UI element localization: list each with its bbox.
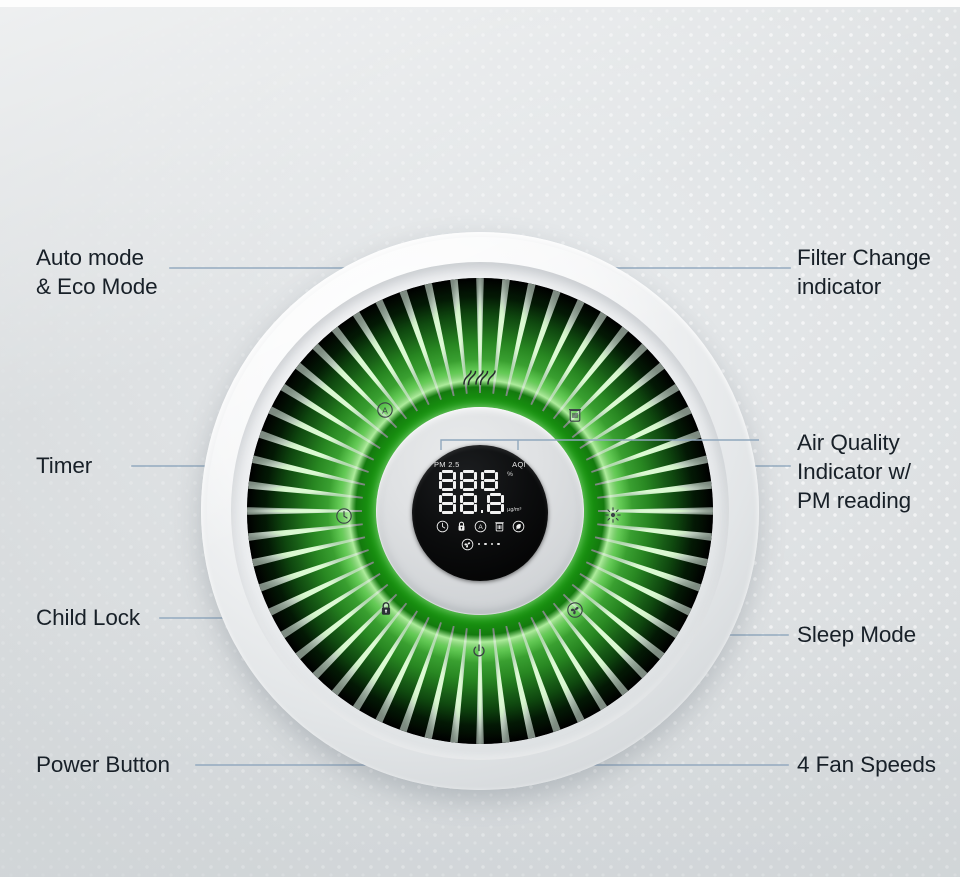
aqi-reading [439,470,505,491]
callout-air-quality: Air Quality Indicator w/ PM reading [797,429,911,515]
power-button[interactable] [470,642,488,660]
fan-speed-dot [497,543,500,546]
fan-status-icon [461,538,474,551]
percent-unit-label: % [507,472,521,479]
airflow-wave-logo-icon [459,368,501,388]
pm25-reading [439,493,505,514]
mass-unit-label: µg/m³ [507,508,521,514]
callout-sleep-mode: Sleep Mode [797,621,916,650]
timer-status-icon [436,520,449,533]
auto-mode-button[interactable]: A [376,401,394,419]
pm25-label: PM 2.5 [434,461,460,469]
svg-text:A: A [382,405,388,415]
sleep-mode-status-icon [512,520,525,533]
filter-change-status-icon [493,520,506,533]
display-status-icons: A [436,520,525,533]
fan-speed-indicator [461,538,500,551]
child-lock-status-icon [455,520,468,533]
air-purifier-device: A [201,232,759,790]
svg-text:A: A [478,523,483,530]
fan-speed-dot [478,543,481,546]
callout-power-button: Power Button [36,751,170,780]
timer-button[interactable] [335,507,353,525]
callout-timer: Timer [36,452,92,481]
decimal-point [481,510,484,513]
filter-change-button[interactable] [566,406,584,424]
callout-filter-change: Filter Change indicator [797,244,931,302]
callout-fan-speeds: 4 Fan Speeds [797,751,936,780]
light-sleep-button[interactable] [604,506,622,524]
callout-child-lock: Child Lock [36,604,140,633]
display-top-labels: PM 2.5 AQI [426,461,534,469]
aqi-label: AQI [512,461,526,469]
child-lock-button[interactable] [377,600,395,618]
top-white-band [0,0,960,7]
display-reading: % µg/m³ [439,470,522,514]
lcd-display: PM 2.5 AQI [412,445,548,581]
callout-auto-eco: Auto mode & Eco Mode [36,244,158,302]
fan-speed-dot [484,543,487,546]
screenshot-stage: A [0,0,960,877]
fan-speed-dot [491,543,494,546]
fan-speed-button[interactable] [566,601,584,619]
auto-mode-status-icon: A [474,520,487,533]
